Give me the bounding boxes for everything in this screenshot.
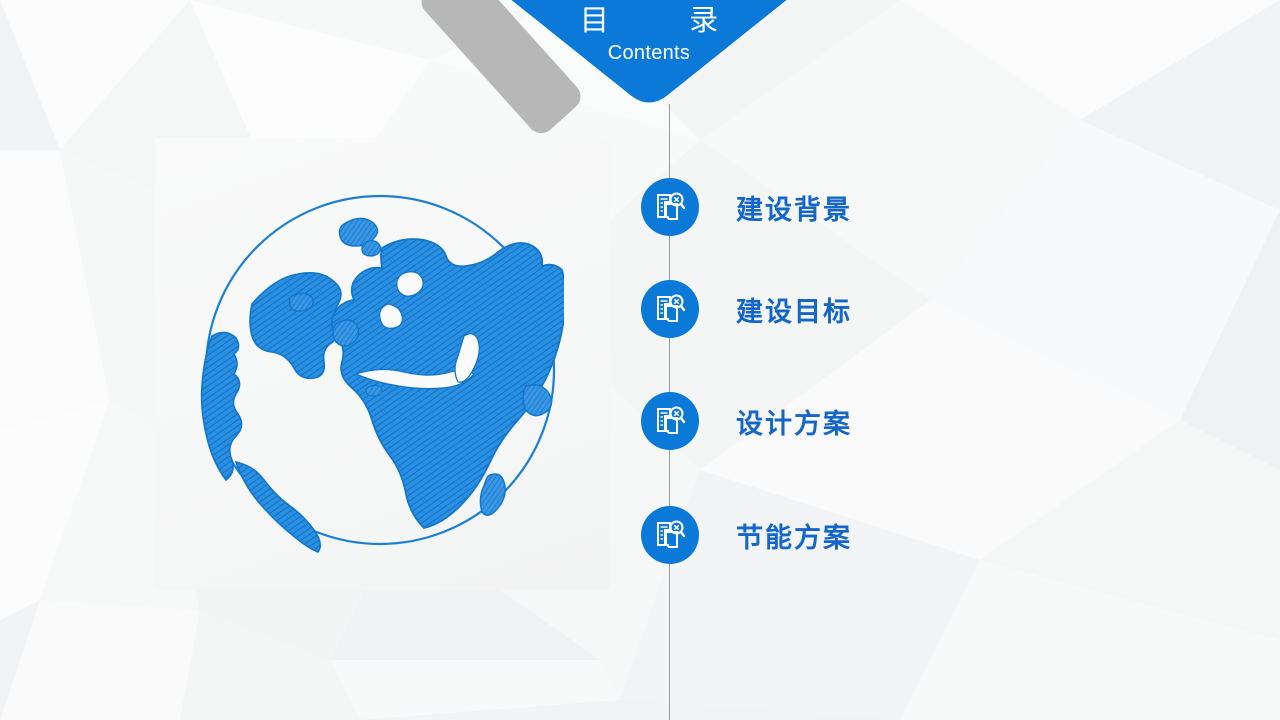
list-item[interactable]: 设计方案 bbox=[641, 392, 852, 450]
list-item[interactable]: 节能方案 bbox=[641, 506, 852, 564]
list-item-label: 建设目标 bbox=[736, 290, 852, 329]
contents-list: 建设背景 建设目标 bbox=[641, 0, 1201, 720]
presentation-slide: 目 录 Contents bbox=[0, 0, 1280, 720]
list-item-label: 设计方案 bbox=[736, 402, 852, 441]
document-search-icon bbox=[641, 280, 699, 338]
list-item[interactable]: 建设目标 bbox=[641, 280, 852, 338]
list-item-label: 节能方案 bbox=[736, 516, 852, 555]
document-search-icon bbox=[641, 392, 699, 450]
sketch-globe-illustration bbox=[196, 186, 564, 554]
list-item-label: 建设背景 bbox=[736, 188, 852, 227]
document-search-icon bbox=[641, 506, 699, 564]
list-item[interactable]: 建设背景 bbox=[641, 178, 852, 236]
document-search-icon bbox=[641, 178, 699, 236]
